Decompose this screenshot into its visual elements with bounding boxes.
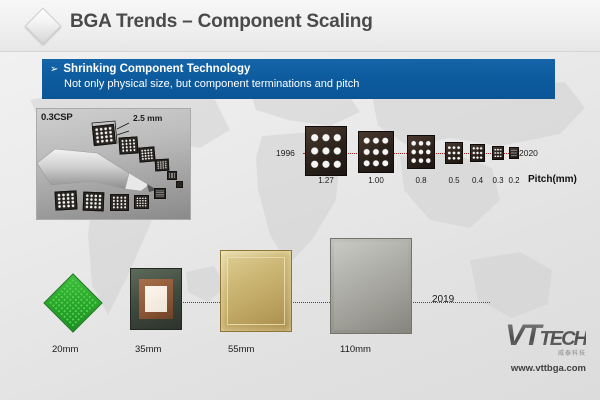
pitch-unit-label: Pitch(mm) — [528, 174, 577, 185]
csp-chip — [92, 124, 116, 146]
size-progression-row: 2019 20mm35mm55mm110mm — [40, 240, 510, 370]
bga-package — [445, 142, 463, 164]
chip-20mm — [43, 273, 102, 332]
page-title: BGA Trends – Component Scaling — [70, 11, 373, 33]
footer-logo-block: VTTECH 威泰科技 www.vttbga.com — [505, 322, 586, 375]
pitch-value-label: 0.2 — [503, 176, 525, 185]
csp-chip — [110, 194, 129, 211]
csp-chip — [134, 195, 149, 209]
csp-chip — [55, 190, 78, 210]
bga-package — [470, 144, 485, 162]
website-url[interactable]: www.vttbga.com — [505, 363, 586, 374]
csp-label: 0.3CSP — [41, 112, 73, 123]
slide-canvas: BGA Trends – Component Scaling ➢ Shrinki… — [0, 0, 600, 400]
chip-55mm — [220, 250, 292, 332]
csp-chip — [176, 181, 183, 188]
csp-chip — [118, 136, 138, 154]
csp-chip — [155, 159, 170, 172]
pitch-value-label: 1.27 — [299, 176, 353, 185]
banner-heading: Shrinking Component Technology — [63, 63, 250, 75]
csp-photo-inset: 0.3CSP 2.5 mm — [36, 108, 191, 220]
bga-package — [407, 135, 435, 169]
bga-package — [305, 126, 347, 176]
csp-chip — [138, 146, 155, 162]
pitch-progression-row: 1996 2020 1.271.000.80.50.40.30.2 Pitch(… — [276, 126, 596, 196]
size-value-label: 110mm — [340, 344, 371, 355]
size-value-label: 55mm — [228, 344, 254, 355]
banner: ➢ Shrinking Component Technology Not onl… — [42, 59, 555, 99]
banner-subheading: Not only physical size, but component te… — [64, 78, 555, 90]
chip-110mm — [330, 238, 412, 334]
csp-chip — [154, 188, 166, 199]
bga-package — [358, 131, 394, 173]
pitch-year-start: 1996 — [276, 148, 295, 158]
pitch-value-label: 0.8 — [401, 176, 441, 185]
bga-package — [492, 146, 504, 160]
banner-heading-row: ➢ Shrinking Component Technology — [50, 63, 555, 75]
pitch-year-end: 2020 — [519, 148, 538, 158]
vttech-logo: VTTECH — [505, 322, 586, 351]
pitch-value-label: 1.00 — [352, 176, 400, 185]
bga-package — [509, 147, 519, 159]
csp-dimension-label: 2.5 mm — [133, 113, 162, 123]
slide-header: BGA Trends – Component Scaling — [0, 0, 600, 52]
arrow-right-icon: ➢ — [50, 65, 58, 75]
chip-35mm — [130, 268, 182, 330]
diamond-icon — [25, 8, 62, 45]
csp-chip — [83, 192, 105, 212]
size-value-label: 20mm — [52, 344, 78, 355]
csp-chip — [167, 171, 177, 180]
size-value-label: 35mm — [135, 344, 161, 355]
size-year-label: 2019 — [432, 294, 454, 305]
